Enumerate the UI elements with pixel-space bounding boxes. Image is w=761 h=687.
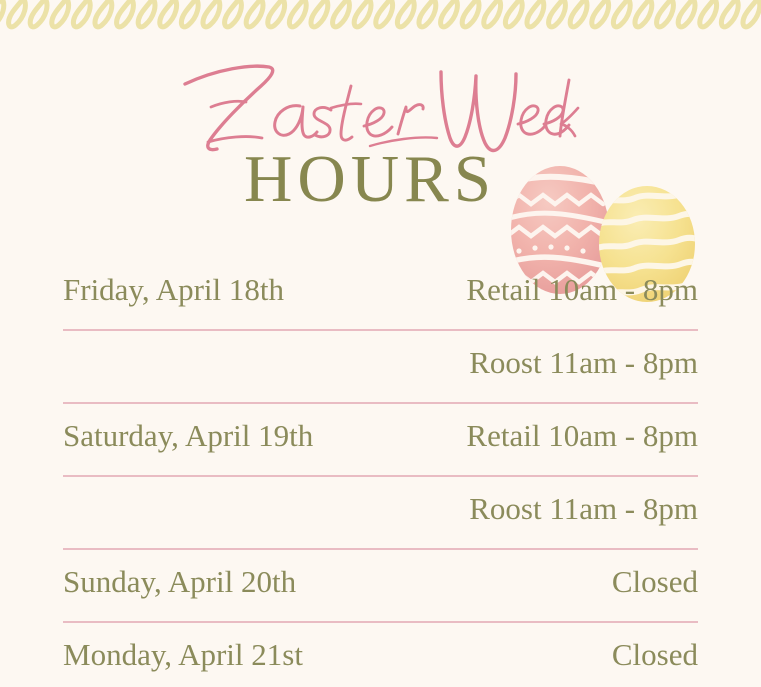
schedule-day: Friday, April 18th [63,258,284,305]
table-row: Saturday, April 19th Retail 10am - 8pm [63,404,698,477]
schedule-hours: Roost 11am - 8pm [469,477,698,524]
table-row: Roost 11am - 8pm [63,477,698,550]
schedule-day: Saturday, April 19th [63,404,313,451]
schedule-day: Monday, April 21st [63,623,303,670]
loop-chain-icon [0,0,761,30]
easter-hours-poster: HOURS [0,0,761,687]
table-row: Monday, April 21st Closed [63,623,698,687]
table-row: Roost 11am - 8pm [63,331,698,404]
schedule-hours: Retail 10am - 8pm [466,404,698,451]
schedule-hours: Closed [612,623,698,670]
schedule-hours: Closed [612,550,698,597]
poster-header: HOURS [0,46,761,261]
hours-schedule-table: Friday, April 18th Retail 10am - 8pm Roo… [63,258,698,687]
schedule-day: Sunday, April 20th [63,550,296,597]
schedule-hours: Retail 10am - 8pm [466,258,698,305]
top-loop-border-decoration [0,0,761,30]
table-row: Friday, April 18th Retail 10am - 8pm [63,258,698,331]
schedule-hours: Roost 11am - 8pm [469,331,698,378]
table-row: Sunday, April 20th Closed [63,550,698,623]
